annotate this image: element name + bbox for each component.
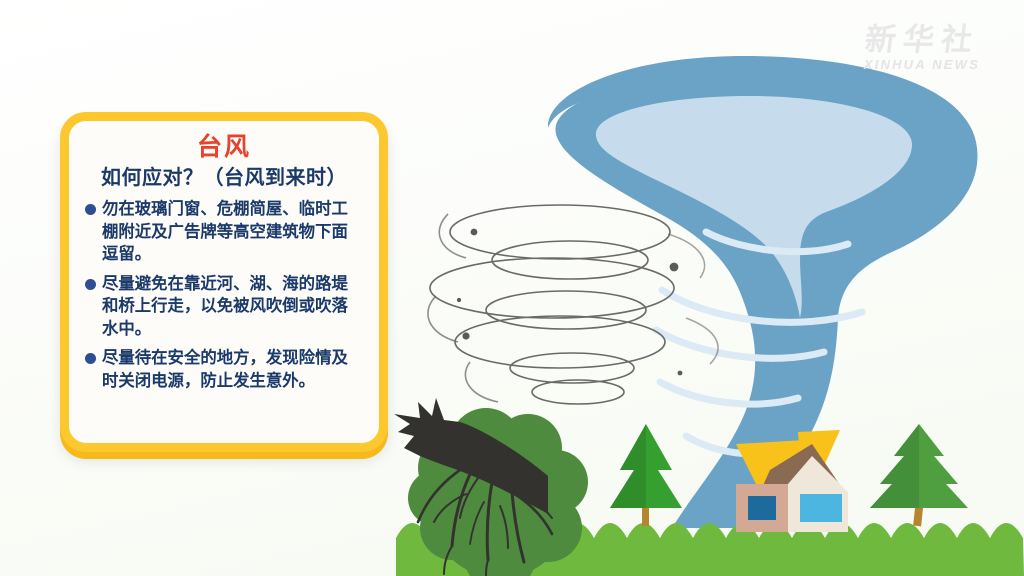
typhoon-info-card: 台风 如何应对？（台风到来时） 勿在玻璃门窗、危棚简屋、临时工棚附近及广告牌等高… — [60, 112, 388, 452]
xinhua-logo: 新华社 XINHUA NEWS — [864, 24, 980, 72]
xinhua-logo-en: XINHUA NEWS — [864, 57, 980, 72]
list-item: 尽量待在安全的地方，发现险情及时关闭电源，防止发生意外。 — [85, 347, 363, 392]
advice-text: 尽量待在安全的地方，发现险情及时关闭电源，防止发生意外。 — [102, 347, 363, 392]
infographic-canvas: 新华社 XINHUA NEWS 台风 如何应对？（台风到来时） 勿在玻璃门窗、危… — [0, 0, 1024, 576]
bullet-dot-icon — [85, 279, 96, 290]
list-item: 勿在玻璃门窗、危棚简屋、临时工棚附近及广告牌等高空建筑物下面逗留。 — [85, 198, 363, 266]
list-item: 尽量避免在靠近河、湖、海的路堤和桥上行走，以免被风吹倒或吹落水中。 — [85, 273, 363, 341]
card-title: 台风 — [85, 132, 363, 162]
advice-text: 勿在玻璃门窗、危棚简屋、临时工棚附近及广告牌等高空建筑物下面逗留。 — [102, 198, 363, 266]
card-subtitle: 如何应对？（台风到来时） — [85, 165, 363, 191]
bullet-dot-icon — [85, 204, 96, 215]
bullet-dot-icon — [85, 353, 96, 364]
xinhua-logo-cn: 新华社 — [862, 24, 982, 56]
advice-text: 尽量避免在靠近河、湖、海的路堤和桥上行走，以免被风吹倒或吹落水中。 — [102, 273, 363, 341]
advice-list: 勿在玻璃门窗、危棚简屋、临时工棚附近及广告牌等高空建筑物下面逗留。 尽量避免在靠… — [85, 198, 363, 392]
